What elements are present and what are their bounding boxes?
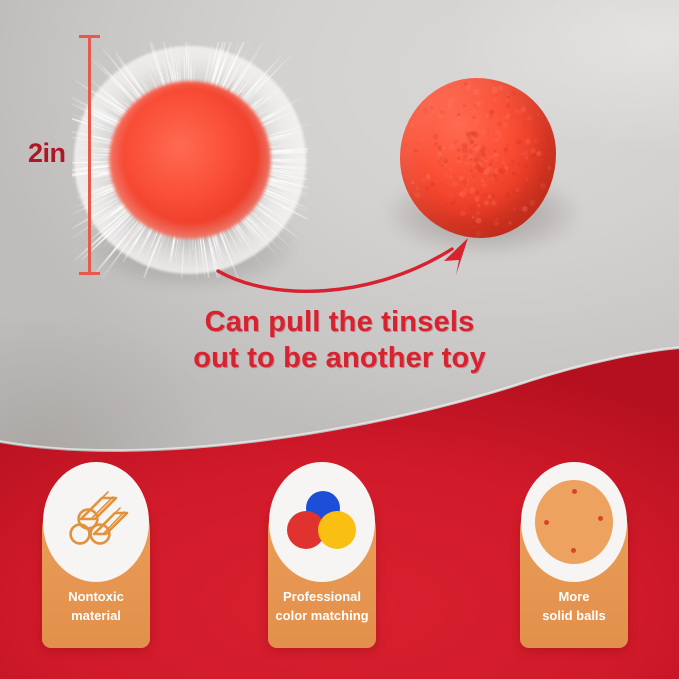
card-3-label-line-2: solid balls (520, 607, 628, 626)
ball-dot-bottom (571, 548, 576, 553)
card-badge-1 (43, 462, 149, 582)
color-dot-yellow (318, 511, 356, 549)
card-label-3: More solid balls (520, 588, 628, 626)
card-label-1: Nontoxic material (42, 588, 150, 626)
ball-dot-left (544, 520, 549, 525)
card-2-label-line-1: Professional (268, 588, 376, 607)
card-badge-2 (269, 462, 375, 582)
color-circles-icon (285, 491, 359, 553)
feature-card-professional-color-matching[interactable]: Professional color matching (268, 477, 376, 648)
card-1-label-line-1: Nontoxic (42, 588, 150, 607)
card-badge-3 (521, 462, 627, 582)
card-1-label-line-2: material (42, 607, 150, 626)
card-3-label-line-1: More (520, 588, 628, 607)
feature-card-nontoxic-material[interactable]: Nontoxic material (42, 477, 150, 648)
feature-card-more-solid-balls[interactable]: More solid balls (520, 477, 628, 648)
card-2-label-line-2: color matching (268, 607, 376, 626)
solid-ball-ring-icon (535, 480, 613, 564)
stacked-logs-icon (61, 489, 131, 555)
ball-dot-top (572, 489, 577, 494)
card-label-2: Professional color matching (268, 588, 376, 626)
ball-dot-right (598, 516, 603, 521)
product-infographic: 2in Can pull the tinsels out to be anoth… (0, 0, 679, 679)
